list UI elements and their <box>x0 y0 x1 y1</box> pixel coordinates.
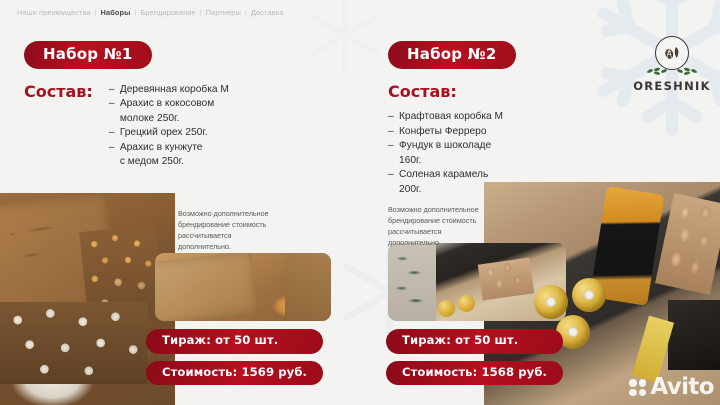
product-set-1: Набор №1 Состав: Деревянная коробка М Ар… <box>24 41 344 170</box>
top-navigation: Наши преимущества | Наборы | Брендирован… <box>0 0 720 26</box>
set-1-photo-nuts-sesame <box>0 302 148 384</box>
set-2-photo-ferrero-candy <box>572 278 606 312</box>
set-1-banners: Тираж: от 50 шт. Стоимость: 1569 руб. <box>146 329 323 385</box>
nav-item-delivery[interactable]: Доставка <box>251 9 284 16</box>
avito-watermark: Avito <box>629 376 714 399</box>
nav-item-advantages[interactable]: Наши преимущества <box>17 9 91 16</box>
list-item: Фундук в шоколаде 160г. <box>388 139 708 168</box>
set-1-title: Набор №1 <box>24 41 152 69</box>
nav-separator: | <box>241 9 251 16</box>
nav-item-branding[interactable]: Брендирование <box>140 9 195 16</box>
nav-separator: | <box>196 9 206 16</box>
pine-branch-decoration <box>388 243 436 321</box>
promo-page: Наши преимущества | Наборы | Брендирован… <box>0 0 720 405</box>
list-item: Крафтовая коробка М <box>388 110 708 124</box>
set-2-photo-ferrero-candy <box>534 285 568 319</box>
set-2-branding-note: Возможно дополнительное брендирование ст… <box>388 205 540 249</box>
almond-pack-small <box>478 258 535 301</box>
nav-separator: | <box>91 9 101 16</box>
nav-item-sets[interactable]: Наборы <box>101 9 131 16</box>
set-2-title: Набор №2 <box>388 41 516 69</box>
set-1-composition: Состав: Деревянная коробка М Арахис в ко… <box>24 83 344 170</box>
avito-label: Avito <box>650 376 714 399</box>
set-2-quantity-banner: Тираж: от 50 шт. <box>386 329 563 354</box>
brand-name: ORESHNIK <box>633 79 711 93</box>
leaf-sprig-icon <box>636 63 708 73</box>
set-1-quantity-banner: Тираж: от 50 шт. <box>146 329 323 354</box>
brand-logo[interactable]: ORESHNIK <box>636 36 708 93</box>
set-2-price-banner: Стоимость: 1568 руб. <box>386 361 563 386</box>
set-1-item-list: Деревянная коробка М Арахис в кокосовом … <box>109 83 229 170</box>
avito-dots-icon <box>629 379 646 396</box>
nav-list: Наши преимущества | Наборы | Брендирован… <box>17 9 283 16</box>
nav-item-partners[interactable]: Партнеры <box>206 9 241 16</box>
set-2-banners: Тираж: от 50 шт. Стоимость: 1568 руб. <box>386 329 563 385</box>
list-item: Деревянная коробка М <box>109 83 229 97</box>
list-item: Конфеты Ферреро <box>388 125 708 139</box>
set-1-price-banner: Стоимость: 1569 руб. <box>146 361 323 386</box>
set-1-branding-note: Возможно дополнительное брендирование ст… <box>178 209 328 253</box>
list-item: Арахис в кокосовом молоке 250г. <box>109 97 229 126</box>
set-1-photo-box-closed <box>155 253 331 321</box>
set-1-compose-label: Состав: <box>24 83 93 101</box>
nav-separator: | <box>131 9 141 16</box>
list-item: Грецкий орех 250г. <box>109 126 229 140</box>
ferrero-candy-small <box>458 295 475 312</box>
list-item: Арахис в кунжуте с медом 250г. <box>109 141 229 170</box>
set-2-composition: Состав: Крафтовая коробка М Конфеты Ферр… <box>388 83 708 197</box>
ferrero-candy-small <box>438 300 455 317</box>
set-2-photo-chocolate-bar <box>668 300 720 370</box>
